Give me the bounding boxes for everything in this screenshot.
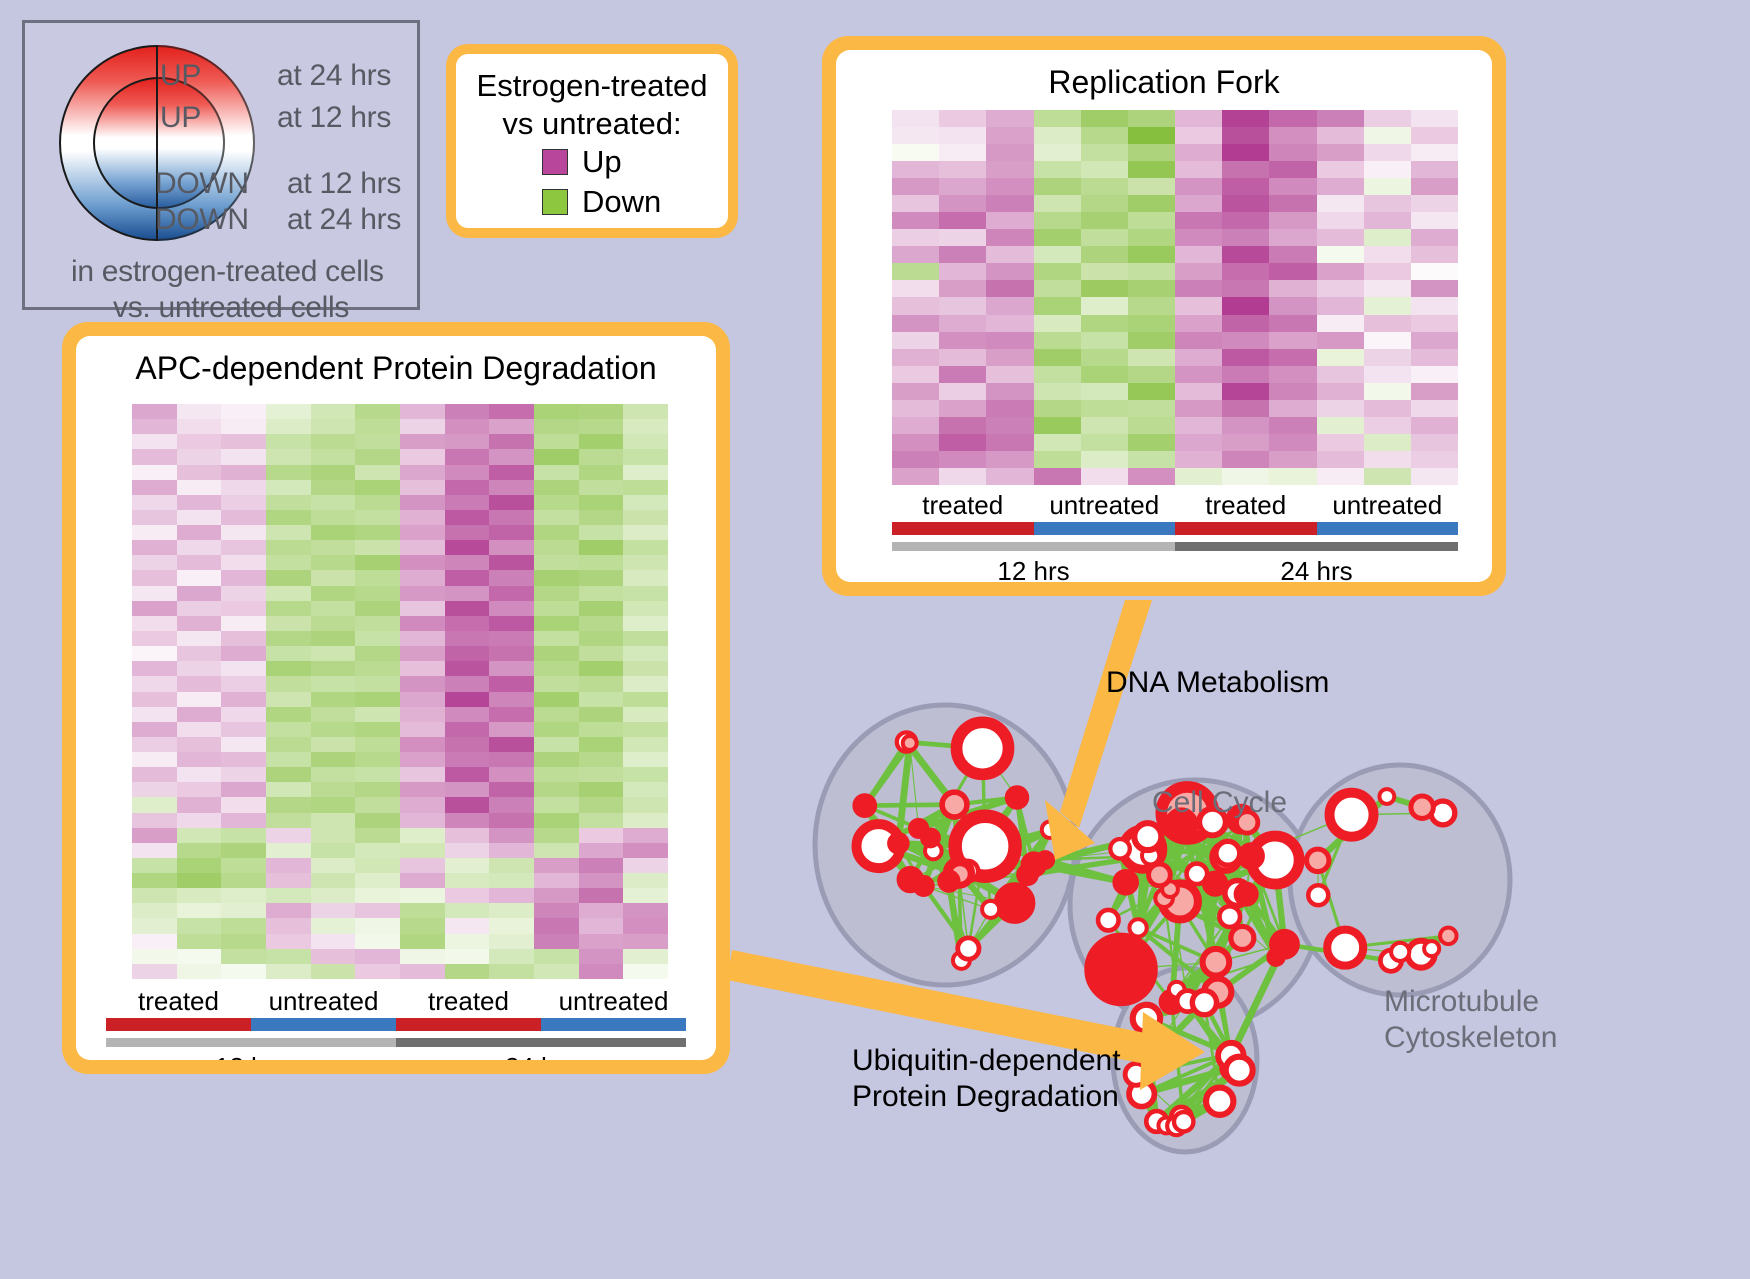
heatmap-cell bbox=[266, 404, 311, 419]
heatmap-cell bbox=[1128, 195, 1175, 212]
heatmap-cell bbox=[311, 540, 356, 555]
heatmap-cell bbox=[939, 315, 986, 332]
heatmap-cell bbox=[400, 676, 445, 691]
heatmap-cell bbox=[1317, 161, 1364, 178]
heatmap-cell bbox=[1269, 280, 1316, 297]
heatmap-cell bbox=[221, 601, 266, 616]
heatmap-cell bbox=[1364, 178, 1411, 195]
heatmap-cell bbox=[1175, 280, 1222, 297]
heatmap-cell bbox=[939, 383, 986, 400]
heatmap-cell bbox=[1222, 349, 1269, 366]
heatmap-cell bbox=[355, 858, 400, 873]
heatmap-cell bbox=[400, 601, 445, 616]
network-diagram bbox=[800, 640, 1560, 1260]
heatmap-cell bbox=[986, 212, 1033, 229]
heatmap-cell bbox=[1175, 297, 1222, 314]
heatmap-cell bbox=[132, 449, 177, 464]
heatmap-cell bbox=[355, 540, 400, 555]
heatmap-cell bbox=[1269, 417, 1316, 434]
network-node[interactable] bbox=[1098, 910, 1119, 931]
heatmap-cell bbox=[579, 525, 624, 540]
heatmap-cell bbox=[221, 737, 266, 752]
heatmap-cell bbox=[623, 480, 668, 495]
heatmap-cell bbox=[221, 707, 266, 722]
heatmap-cell bbox=[986, 349, 1033, 366]
heatmap-cell bbox=[1175, 349, 1222, 366]
heatmap-cell bbox=[355, 752, 400, 767]
network-node[interactable] bbox=[1424, 941, 1439, 956]
heatmap-cell bbox=[1411, 451, 1458, 468]
heatmap-cell bbox=[311, 661, 356, 676]
network-node[interactable] bbox=[1330, 793, 1374, 837]
heatmap-cell bbox=[939, 434, 986, 451]
heatmap-cell bbox=[311, 843, 356, 858]
heatmap-cell bbox=[1317, 366, 1364, 383]
condition-bar bbox=[106, 1018, 251, 1031]
network-node[interactable] bbox=[1379, 789, 1394, 804]
heatmap-cell bbox=[445, 495, 490, 510]
condition-label: treated bbox=[892, 490, 1034, 521]
heatmap-cell bbox=[177, 722, 222, 737]
heatmap-cell bbox=[1034, 383, 1081, 400]
heatmap-cell bbox=[177, 540, 222, 555]
heatmap-cell bbox=[939, 297, 986, 314]
heatmap-cell bbox=[132, 797, 177, 812]
heatmap-cell bbox=[266, 601, 311, 616]
heatmap-cell bbox=[311, 570, 356, 585]
heatmap-cell bbox=[1317, 195, 1364, 212]
cluster-label-ubiquitin-line1: Ubiquitin-dependent bbox=[852, 1044, 1121, 1078]
heatmap-cell bbox=[1317, 332, 1364, 349]
heatmap-cell bbox=[221, 949, 266, 964]
network-node[interactable] bbox=[1216, 841, 1240, 865]
heatmap-cell bbox=[939, 127, 986, 144]
heatmap-cell bbox=[311, 888, 356, 903]
heatmap-cell bbox=[1411, 280, 1458, 297]
heatmap-cell bbox=[177, 419, 222, 434]
network-node[interactable] bbox=[1133, 1005, 1160, 1032]
heatmap-cell bbox=[1269, 212, 1316, 229]
heatmap-cell bbox=[579, 903, 624, 918]
heatmap-cell bbox=[445, 434, 490, 449]
heatmap-cell bbox=[939, 417, 986, 434]
heatmap-cell bbox=[1411, 161, 1458, 178]
timepoint-label: 24 hrs bbox=[396, 1052, 686, 1060]
network-node[interactable] bbox=[889, 834, 907, 852]
heatmap-cell bbox=[1034, 349, 1081, 366]
heatmap-cell bbox=[266, 797, 311, 812]
heatmap-cell bbox=[445, 737, 490, 752]
heatmap-cell bbox=[1128, 468, 1175, 485]
updown-key-card: Estrogen-treated vs untreated: Up Down bbox=[446, 44, 738, 238]
heatmap-cell bbox=[221, 419, 266, 434]
network-node[interactable] bbox=[922, 829, 939, 846]
heatmap-cell bbox=[1222, 297, 1269, 314]
heatmap-cell bbox=[1175, 400, 1222, 417]
heatmap-cell bbox=[1317, 263, 1364, 280]
heatmap-cell bbox=[177, 752, 222, 767]
timepoint-label: 24 hrs bbox=[1175, 556, 1458, 582]
heatmap-cell bbox=[132, 888, 177, 903]
heatmap-cell bbox=[489, 586, 534, 601]
timepoint-label: 12 hrs bbox=[892, 556, 1175, 582]
heatmap-cell bbox=[986, 110, 1033, 127]
legend-box: UP at 24 hrs UP at 12 hrs DOWN at 12 hrs… bbox=[22, 20, 420, 310]
heatmap-cell bbox=[221, 843, 266, 858]
heatmap-cell bbox=[1364, 434, 1411, 451]
heatmap-cell bbox=[266, 449, 311, 464]
network-node[interactable] bbox=[1231, 926, 1254, 949]
heatmap-cell bbox=[623, 903, 668, 918]
heatmap-cell bbox=[355, 616, 400, 631]
network-node[interactable] bbox=[998, 886, 1032, 920]
heatmap-cell bbox=[1222, 468, 1269, 485]
heatmap-cell bbox=[177, 828, 222, 843]
heatmap-cell bbox=[489, 782, 534, 797]
heatmap-cell bbox=[311, 465, 356, 480]
heatmap-cell bbox=[1175, 127, 1222, 144]
heatmap-cell bbox=[1128, 110, 1175, 127]
heatmap-cell bbox=[1034, 246, 1081, 263]
heatmap-cell bbox=[1081, 263, 1128, 280]
heatmap-cell bbox=[355, 949, 400, 964]
network-node[interactable] bbox=[982, 901, 999, 918]
network-node[interactable] bbox=[1203, 949, 1230, 976]
heatmap-cell bbox=[623, 434, 668, 449]
heatmap-cell bbox=[400, 404, 445, 419]
network-node[interactable] bbox=[1091, 939, 1151, 999]
heatmap-cell bbox=[1128, 400, 1175, 417]
heatmap-cell bbox=[1269, 297, 1316, 314]
condition-bar bbox=[541, 1018, 686, 1031]
heatmap-cell bbox=[1317, 349, 1364, 366]
heatmap-cell bbox=[445, 586, 490, 601]
network-node[interactable] bbox=[1308, 885, 1328, 905]
heatmap-cell bbox=[266, 843, 311, 858]
network-node[interactable] bbox=[1174, 1112, 1193, 1131]
heatmap-cell bbox=[132, 752, 177, 767]
heatmap-cell bbox=[400, 555, 445, 570]
heatmap-cell bbox=[939, 144, 986, 161]
replication-condition-bars bbox=[892, 522, 1458, 535]
heatmap-cell bbox=[132, 495, 177, 510]
network-node[interactable] bbox=[1391, 943, 1409, 961]
network-node[interactable] bbox=[939, 872, 958, 891]
network-node[interactable] bbox=[1110, 839, 1129, 858]
network-node[interactable] bbox=[1411, 796, 1433, 818]
heatmap-cell bbox=[1222, 178, 1269, 195]
heatmap-cell bbox=[623, 586, 668, 601]
network-node[interactable] bbox=[1149, 864, 1171, 886]
heatmap-cell bbox=[1081, 280, 1128, 297]
heatmap-cell bbox=[534, 903, 579, 918]
heatmap-cell bbox=[445, 873, 490, 888]
network-node[interactable] bbox=[1042, 822, 1058, 838]
heatmap-cell bbox=[986, 229, 1033, 246]
heatmap-cell bbox=[1034, 195, 1081, 212]
heatmap-cell bbox=[400, 722, 445, 737]
heatmap-cell bbox=[266, 465, 311, 480]
heatmap-cell bbox=[1128, 434, 1175, 451]
legend-direction-down-12: DOWN bbox=[155, 167, 249, 201]
network-node[interactable] bbox=[958, 938, 979, 959]
heatmap-cell bbox=[311, 555, 356, 570]
heatmap-cell bbox=[623, 676, 668, 691]
heatmap-cell bbox=[400, 828, 445, 843]
heatmap-cell bbox=[579, 465, 624, 480]
heatmap-cell bbox=[445, 449, 490, 464]
heatmap-cell bbox=[400, 540, 445, 555]
heatmap-cell bbox=[177, 888, 222, 903]
condition-label: untreated bbox=[541, 986, 686, 1017]
cluster-label-cell-cycle: Cell Cycle bbox=[1152, 786, 1287, 820]
heatmap-cell bbox=[400, 752, 445, 767]
heatmap-cell bbox=[579, 661, 624, 676]
network-node[interactable] bbox=[1240, 845, 1263, 868]
heatmap-cell bbox=[221, 722, 266, 737]
heatmap-cell bbox=[311, 797, 356, 812]
heatmap-cell bbox=[266, 586, 311, 601]
network-node[interactable] bbox=[1327, 930, 1363, 966]
heatmap-cell bbox=[445, 510, 490, 525]
heatmap-cell bbox=[623, 782, 668, 797]
heatmap-cell bbox=[489, 873, 534, 888]
heatmap-cell bbox=[579, 737, 624, 752]
network-node[interactable] bbox=[855, 795, 875, 815]
network-node[interactable] bbox=[1192, 991, 1216, 1015]
heatmap-cell bbox=[311, 873, 356, 888]
heatmap-cell bbox=[534, 843, 579, 858]
heatmap-cell bbox=[1222, 451, 1269, 468]
heatmap-cell bbox=[1411, 400, 1458, 417]
network-node[interactable] bbox=[903, 736, 917, 750]
heatmap-cell bbox=[1081, 212, 1128, 229]
heatmap-cell bbox=[355, 404, 400, 419]
heatmap-cell bbox=[579, 722, 624, 737]
network-node[interactable] bbox=[1007, 787, 1027, 807]
heatmap-cell bbox=[311, 692, 356, 707]
heatmap-cell bbox=[355, 419, 400, 434]
heatmap-cell bbox=[986, 332, 1033, 349]
network-node[interactable] bbox=[1129, 919, 1146, 936]
heatmap-cell bbox=[355, 737, 400, 752]
heatmap-cell bbox=[221, 510, 266, 525]
heatmap-cell bbox=[1411, 110, 1458, 127]
heatmap-cell bbox=[311, 616, 356, 631]
heatmap-cell bbox=[445, 555, 490, 570]
heatmap-cell bbox=[1081, 383, 1128, 400]
heatmap-cell bbox=[221, 676, 266, 691]
heatmap-cell bbox=[939, 212, 986, 229]
heatmap-cell bbox=[1175, 434, 1222, 451]
heatmap-cell bbox=[400, 707, 445, 722]
heatmap-cell bbox=[623, 449, 668, 464]
heatmap-cell bbox=[1222, 212, 1269, 229]
network-node[interactable] bbox=[1226, 1057, 1253, 1084]
heatmap-cell bbox=[1411, 144, 1458, 161]
heatmap-cell bbox=[311, 404, 356, 419]
heatmap-cell bbox=[489, 540, 534, 555]
network-node[interactable] bbox=[1236, 884, 1256, 904]
network-node[interactable] bbox=[1038, 852, 1054, 868]
heatmap-cell bbox=[939, 195, 986, 212]
heatmap-cell bbox=[266, 752, 311, 767]
network-node[interactable] bbox=[1219, 906, 1240, 927]
heatmap-cell bbox=[986, 178, 1033, 195]
heatmap-cell bbox=[177, 676, 222, 691]
heatmap-cell bbox=[266, 767, 311, 782]
heatmap-cell bbox=[1081, 110, 1128, 127]
heatmap-cell bbox=[623, 934, 668, 949]
heatmap-cell bbox=[1269, 195, 1316, 212]
heatmap-cell bbox=[221, 616, 266, 631]
heatmap-cell bbox=[266, 570, 311, 585]
network-node[interactable] bbox=[942, 792, 967, 817]
heatmap-cell bbox=[1411, 297, 1458, 314]
heatmap-cell bbox=[1411, 468, 1458, 485]
heatmap-cell bbox=[177, 570, 222, 585]
heatmap-cell bbox=[1364, 349, 1411, 366]
heatmap-cell bbox=[445, 616, 490, 631]
heatmap-cell bbox=[132, 813, 177, 828]
heatmap-cell bbox=[1175, 332, 1222, 349]
network-node[interactable] bbox=[1204, 873, 1225, 894]
heatmap-cell bbox=[177, 525, 222, 540]
heatmap-cell bbox=[445, 465, 490, 480]
heatmap-cell bbox=[579, 964, 624, 979]
heatmap-cell bbox=[355, 797, 400, 812]
network-node[interactable] bbox=[1440, 928, 1456, 944]
heatmap-cell bbox=[1081, 400, 1128, 417]
heatmap-cell bbox=[489, 964, 534, 979]
heatmap-cell bbox=[1364, 144, 1411, 161]
heatmap-cell bbox=[892, 229, 939, 246]
heatmap-cell bbox=[579, 918, 624, 933]
heatmap-cell bbox=[445, 858, 490, 873]
heatmap-cell bbox=[534, 601, 579, 616]
heatmap-cell bbox=[939, 332, 986, 349]
network-node[interactable] bbox=[1134, 823, 1161, 850]
heatmap-cell bbox=[1222, 417, 1269, 434]
heatmap-cell bbox=[355, 888, 400, 903]
heatmap-cell bbox=[221, 903, 266, 918]
network-node[interactable] bbox=[1272, 932, 1297, 957]
network-node[interactable] bbox=[1125, 1063, 1147, 1085]
heatmap-cell bbox=[355, 586, 400, 601]
heatmap-cell bbox=[1034, 229, 1081, 246]
heatmap-cell bbox=[177, 813, 222, 828]
heatmap-cell bbox=[311, 782, 356, 797]
heatmap-cell bbox=[579, 676, 624, 691]
heatmap-cell bbox=[400, 949, 445, 964]
cluster-label-dna-metabolism: DNA Metabolism bbox=[1106, 666, 1329, 700]
heatmap-cell bbox=[534, 480, 579, 495]
heatmap-cell bbox=[1364, 263, 1411, 280]
apc-timepoint-bars bbox=[106, 1038, 686, 1047]
heatmap-cell bbox=[534, 676, 579, 691]
heatmap-cell bbox=[1222, 195, 1269, 212]
heatmap-cell bbox=[579, 888, 624, 903]
heatmap-cell bbox=[400, 480, 445, 495]
heatmap-cell bbox=[892, 212, 939, 229]
heatmap-cell bbox=[1175, 315, 1222, 332]
heatmap-cell bbox=[1222, 332, 1269, 349]
heatmap-cell bbox=[400, 797, 445, 812]
network-node[interactable] bbox=[1115, 871, 1137, 893]
heatmap-cell bbox=[266, 828, 311, 843]
panel-replication-fork: Replication Fork treateduntreatedtreated… bbox=[822, 36, 1506, 596]
network-node[interactable] bbox=[1307, 849, 1329, 871]
heatmap-cell bbox=[221, 888, 266, 903]
heatmap-cell bbox=[1034, 434, 1081, 451]
heatmap-cell bbox=[579, 510, 624, 525]
heatmap-cell bbox=[311, 918, 356, 933]
panel-apc-degradation: APC-dependent Protein Degradation treate… bbox=[62, 322, 730, 1074]
legend-time-up-12: at 12 hrs bbox=[277, 101, 391, 135]
heatmap-cell bbox=[177, 797, 222, 812]
heatmap-cell bbox=[1411, 417, 1458, 434]
heatmap-cell bbox=[355, 631, 400, 646]
heatmap-cell bbox=[1034, 178, 1081, 195]
heatmap-cell bbox=[355, 601, 400, 616]
heatmap-cell bbox=[579, 707, 624, 722]
network-node[interactable] bbox=[957, 722, 1009, 774]
heatmap-cell bbox=[221, 934, 266, 949]
network-node[interactable] bbox=[1206, 1088, 1233, 1115]
heatmap-cell bbox=[311, 586, 356, 601]
heatmap-cell bbox=[132, 692, 177, 707]
heatmap-cell bbox=[892, 315, 939, 332]
condition-bar bbox=[1317, 522, 1459, 535]
heatmap-cell bbox=[221, 782, 266, 797]
timepoint-label: 12 hrs bbox=[106, 1052, 396, 1060]
heatmap-cell bbox=[534, 510, 579, 525]
heatmap-cell bbox=[579, 752, 624, 767]
heatmap-cell bbox=[311, 631, 356, 646]
heatmap-cell bbox=[1269, 434, 1316, 451]
heatmap-cell bbox=[266, 873, 311, 888]
heatmap-cell bbox=[579, 540, 624, 555]
heatmap-cell bbox=[986, 468, 1033, 485]
heatmap-cell bbox=[177, 480, 222, 495]
network-node[interactable] bbox=[915, 877, 933, 895]
heatmap-cell bbox=[400, 918, 445, 933]
legend-time-down-12: at 12 hrs bbox=[287, 167, 401, 201]
heatmap-cell bbox=[489, 707, 534, 722]
network-node[interactable] bbox=[1018, 865, 1036, 883]
heatmap-cell bbox=[266, 555, 311, 570]
heatmap-cell bbox=[489, 752, 534, 767]
heatmap-cell bbox=[1175, 178, 1222, 195]
heatmap-cell bbox=[623, 646, 668, 661]
heatmap-cell bbox=[445, 540, 490, 555]
heatmap-cell bbox=[445, 661, 490, 676]
heatmap-cell bbox=[892, 127, 939, 144]
heatmap-cell bbox=[132, 903, 177, 918]
heatmap-cell bbox=[1317, 468, 1364, 485]
heatmap-cell bbox=[1175, 417, 1222, 434]
heatmap-cell bbox=[489, 843, 534, 858]
heatmap-cell bbox=[355, 510, 400, 525]
heatmap-cell bbox=[489, 465, 534, 480]
heatmap-cell bbox=[266, 480, 311, 495]
heatmap-cell bbox=[939, 280, 986, 297]
heatmap-cell bbox=[1364, 127, 1411, 144]
heatmap-cell bbox=[400, 570, 445, 585]
condition-label: treated bbox=[1175, 490, 1317, 521]
heatmap-cell bbox=[534, 918, 579, 933]
heatmap-cell bbox=[266, 722, 311, 737]
